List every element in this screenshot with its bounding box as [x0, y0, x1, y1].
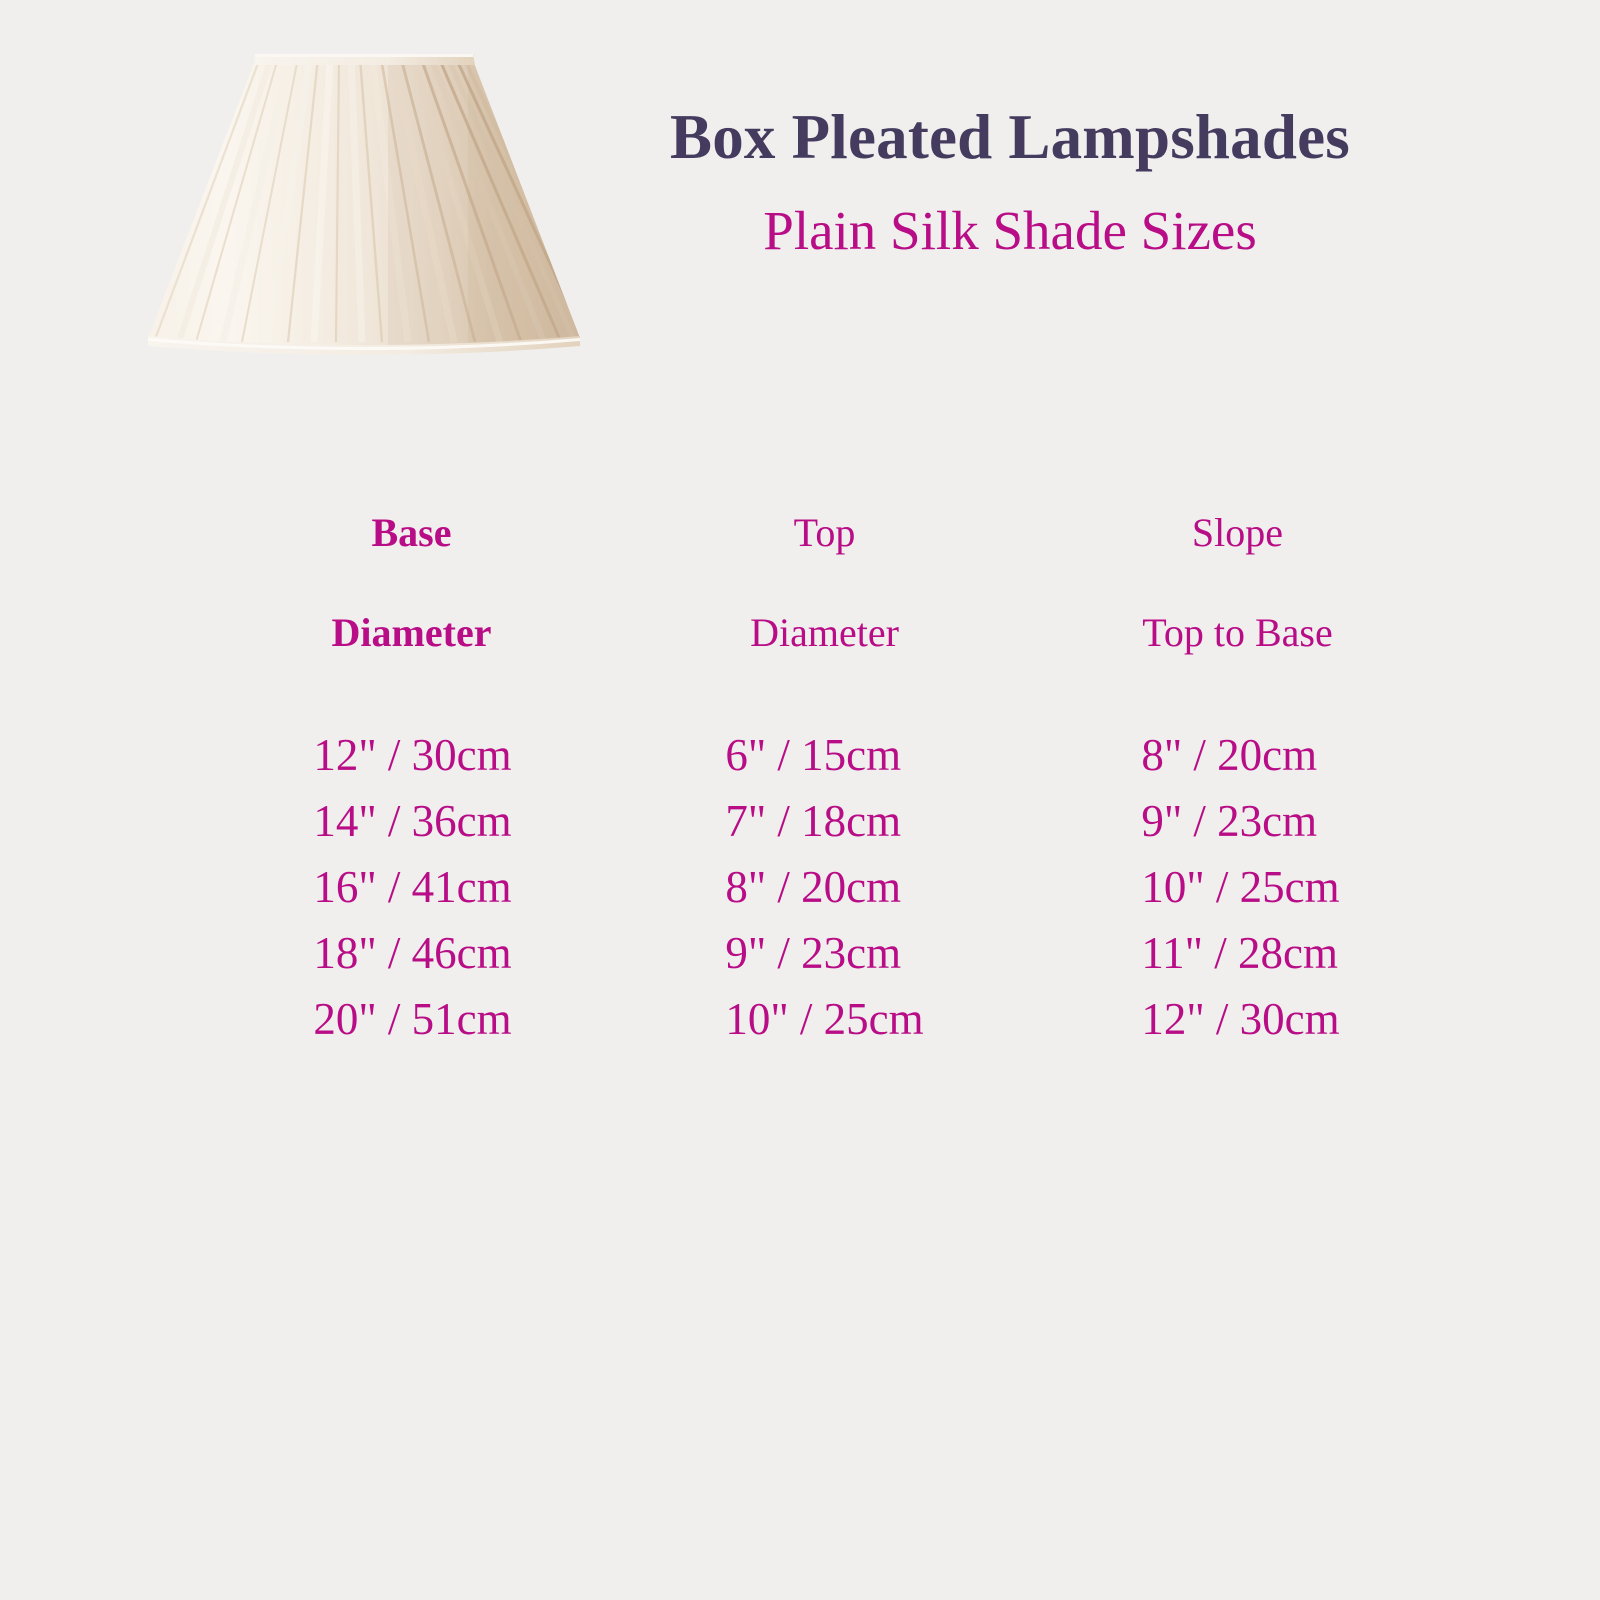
lampshade-illustration	[138, 22, 590, 362]
lampshade-graphic	[138, 22, 590, 362]
size-value: 7" / 18cm	[725, 788, 901, 854]
column-values-base-diameter: 12" / 30cm 14" / 36cm 16" / 41cm 18" / 4…	[311, 722, 511, 1052]
size-value: 20" / 51cm	[313, 986, 511, 1052]
header-block: Box Pleated Lampshades Plain Silk Shade …	[560, 106, 1460, 258]
column-header-line-2: Top to Base	[1142, 608, 1333, 658]
size-value: 18" / 46cm	[313, 920, 511, 986]
size-value: 11" / 28cm	[1141, 920, 1338, 986]
column-header-base-diameter: Base Diameter	[332, 458, 492, 708]
column-header-line-1: Top	[750, 508, 899, 558]
size-value: 16" / 41cm	[313, 854, 511, 920]
size-value: 8" / 20cm	[1141, 722, 1317, 788]
shade-sizes-table: Base Diameter 12" / 30cm 14" / 36cm 16" …	[205, 458, 1445, 1052]
page-title: Box Pleated Lampshades	[560, 106, 1460, 169]
size-value: 10" / 25cm	[1141, 854, 1339, 920]
size-value: 9" / 23cm	[1141, 788, 1317, 854]
size-value: 12" / 30cm	[1141, 986, 1339, 1052]
column-top-diameter: Top Diameter 6" / 15cm 7" / 18cm 8" / 20…	[618, 458, 1031, 1052]
column-header-line-1: Slope	[1142, 508, 1333, 558]
size-value: 9" / 23cm	[725, 920, 901, 986]
column-base-diameter: Base Diameter 12" / 30cm 14" / 36cm 16" …	[205, 458, 618, 1052]
size-value: 6" / 15cm	[725, 722, 901, 788]
column-header-top-diameter: Top Diameter	[750, 458, 899, 708]
column-header-line-1: Base	[332, 508, 492, 558]
size-value: 12" / 30cm	[313, 722, 511, 788]
column-header-line-2: Diameter	[750, 608, 899, 658]
size-value: 10" / 25cm	[725, 986, 923, 1052]
column-header-slope: Slope Top to Base	[1142, 458, 1333, 708]
column-header-line-2: Diameter	[332, 608, 492, 658]
column-values-top-diameter: 6" / 15cm 7" / 18cm 8" / 20cm 9" / 23cm …	[725, 722, 923, 1052]
shade-top-trim-highlight	[255, 54, 473, 57]
column-values-slope: 8" / 20cm 9" / 23cm 10" / 25cm 11" / 28c…	[1135, 722, 1339, 1052]
column-slope-top-to-base: Slope Top to Base 8" / 20cm 9" / 23cm 10…	[1031, 458, 1444, 1052]
page-subtitle: Plain Silk Shade Sizes	[560, 203, 1460, 258]
size-value: 14" / 36cm	[313, 788, 511, 854]
lampshade-size-chart-page: Box Pleated Lampshades Plain Silk Shade …	[0, 0, 1600, 1600]
size-value: 8" / 20cm	[725, 854, 901, 920]
